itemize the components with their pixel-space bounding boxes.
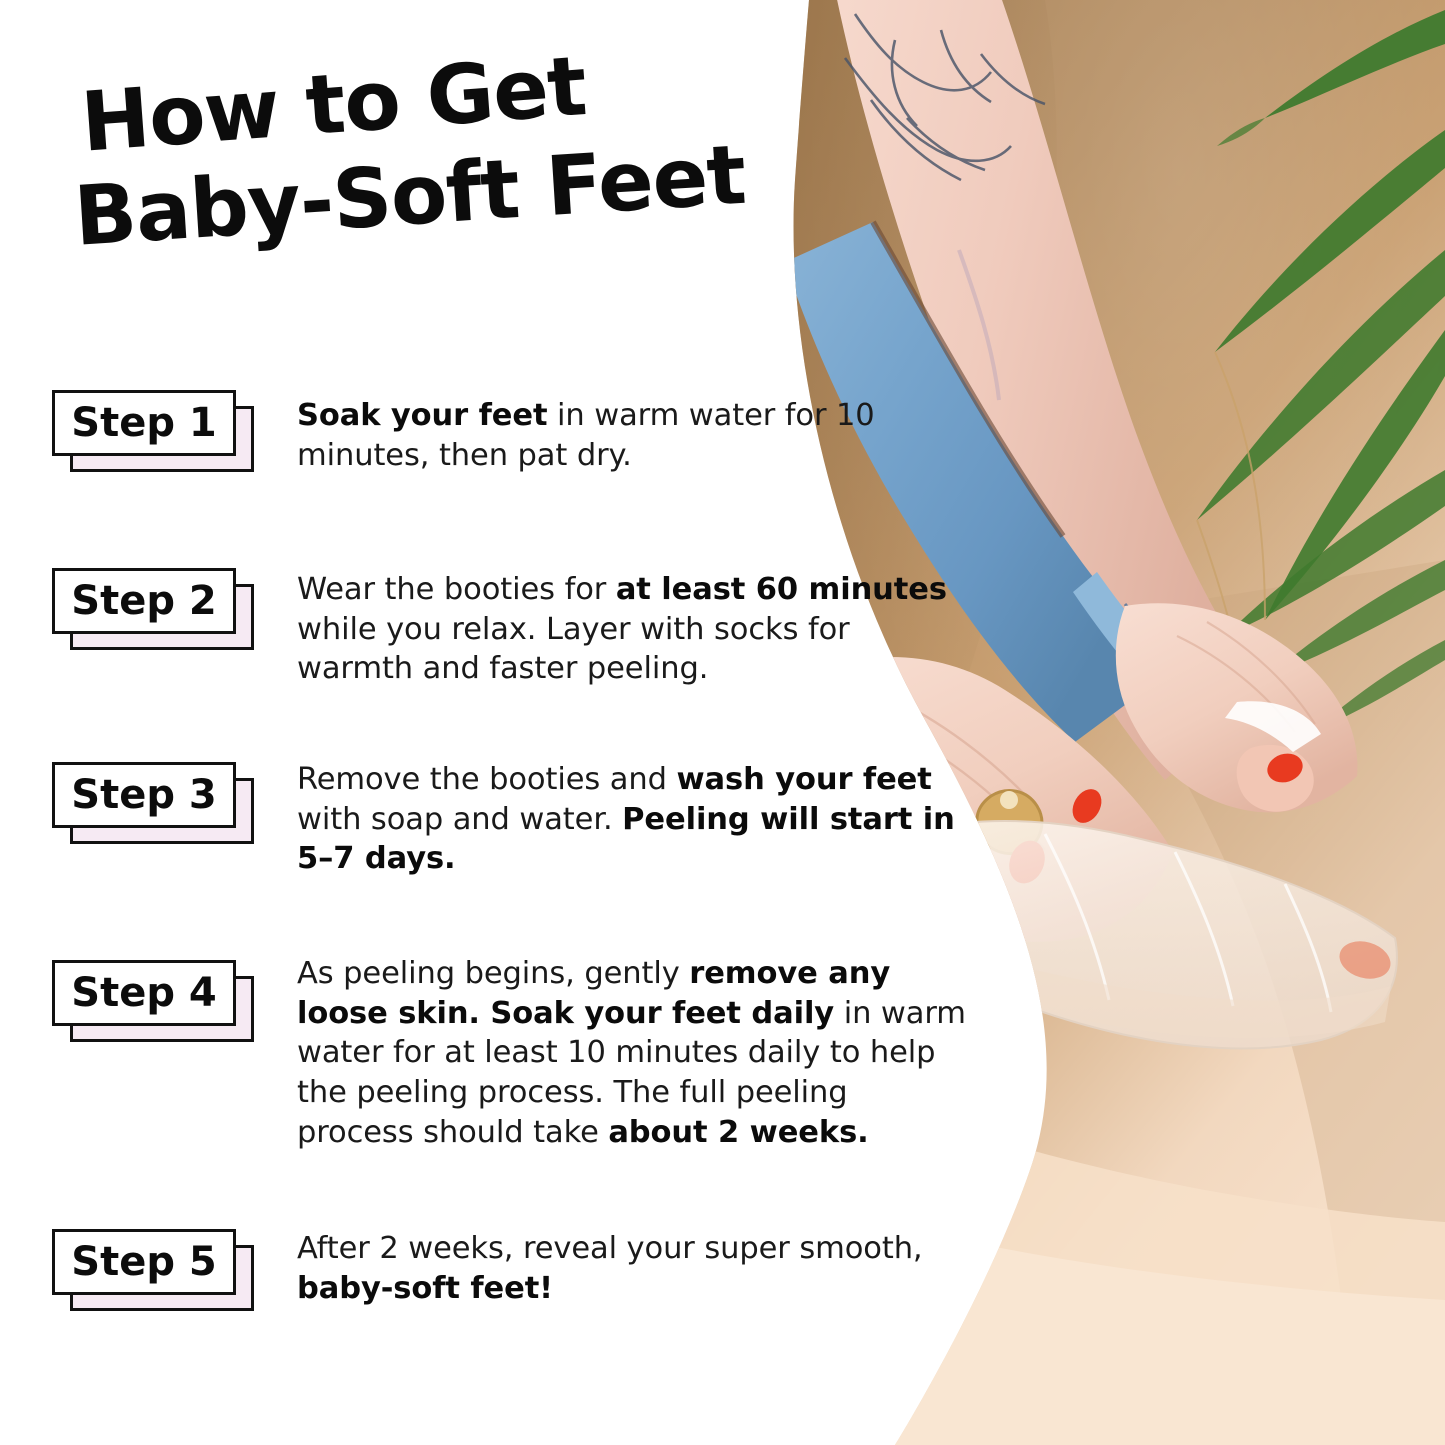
emphasis-text: about 2 weeks. xyxy=(608,1115,868,1150)
step-description: After 2 weeks, reveal your super smooth,… xyxy=(297,1229,957,1308)
step-badge: Step 5 xyxy=(52,1229,266,1325)
step-paragraph: As peeling begins, gently remove any loo… xyxy=(297,954,969,1152)
infographic-page: How to Get Baby-Soft Feet Step 1 Soak yo… xyxy=(0,0,1445,1445)
emphasis-text: Soak your feet xyxy=(297,398,547,433)
step-badge: Step 1 xyxy=(52,390,266,486)
body-text: Wear the booties for xyxy=(297,572,616,607)
step-badge: Step 4 xyxy=(52,960,266,1056)
step-badge-label: Step 5 xyxy=(71,1242,216,1282)
body-text: After 2 weeks, reveal your super smooth, xyxy=(297,1231,923,1266)
step-badge-label: Step 3 xyxy=(71,775,216,815)
body-text: with soap and water. xyxy=(297,802,622,837)
step-badge-front: Step 3 xyxy=(52,762,236,828)
step-badge-front: Step 1 xyxy=(52,390,236,456)
step-description: Soak your feet in warm water for 10 minu… xyxy=(297,396,957,475)
page-title: How to Get Baby-Soft Feet xyxy=(78,25,790,269)
step-badge-label: Step 2 xyxy=(71,581,216,621)
step-description: As peeling begins, gently remove any loo… xyxy=(297,954,969,1152)
step-badge: Step 3 xyxy=(52,762,266,858)
step-description: Remove the booties and wash your feet wi… xyxy=(297,760,969,879)
body-text: Remove the booties and xyxy=(297,762,676,797)
body-text: while you relax. Layer with socks for wa… xyxy=(297,612,850,687)
step-badge-label: Step 4 xyxy=(71,973,216,1013)
step-paragraph: Remove the booties and wash your feet wi… xyxy=(297,760,969,879)
body-text: As peeling begins, gently xyxy=(297,956,689,991)
emphasis-text: at least 60 minutes xyxy=(616,572,947,607)
step-paragraph: Soak your feet in warm water for 10 minu… xyxy=(297,396,957,475)
step-badge: Step 2 xyxy=(52,568,266,664)
step-description: Wear the booties for at least 60 minutes… xyxy=(297,570,957,689)
step-paragraph: After 2 weeks, reveal your super smooth,… xyxy=(297,1229,957,1308)
step-badge-front: Step 4 xyxy=(52,960,236,1026)
step-paragraph: Wear the booties for at least 60 minutes… xyxy=(297,570,957,689)
emphasis-text: wash your feet xyxy=(676,762,931,797)
step-badge-label: Step 1 xyxy=(71,403,216,443)
step-badge-front: Step 2 xyxy=(52,568,236,634)
emphasis-text: baby-soft feet! xyxy=(297,1271,553,1306)
step-badge-front: Step 5 xyxy=(52,1229,236,1295)
